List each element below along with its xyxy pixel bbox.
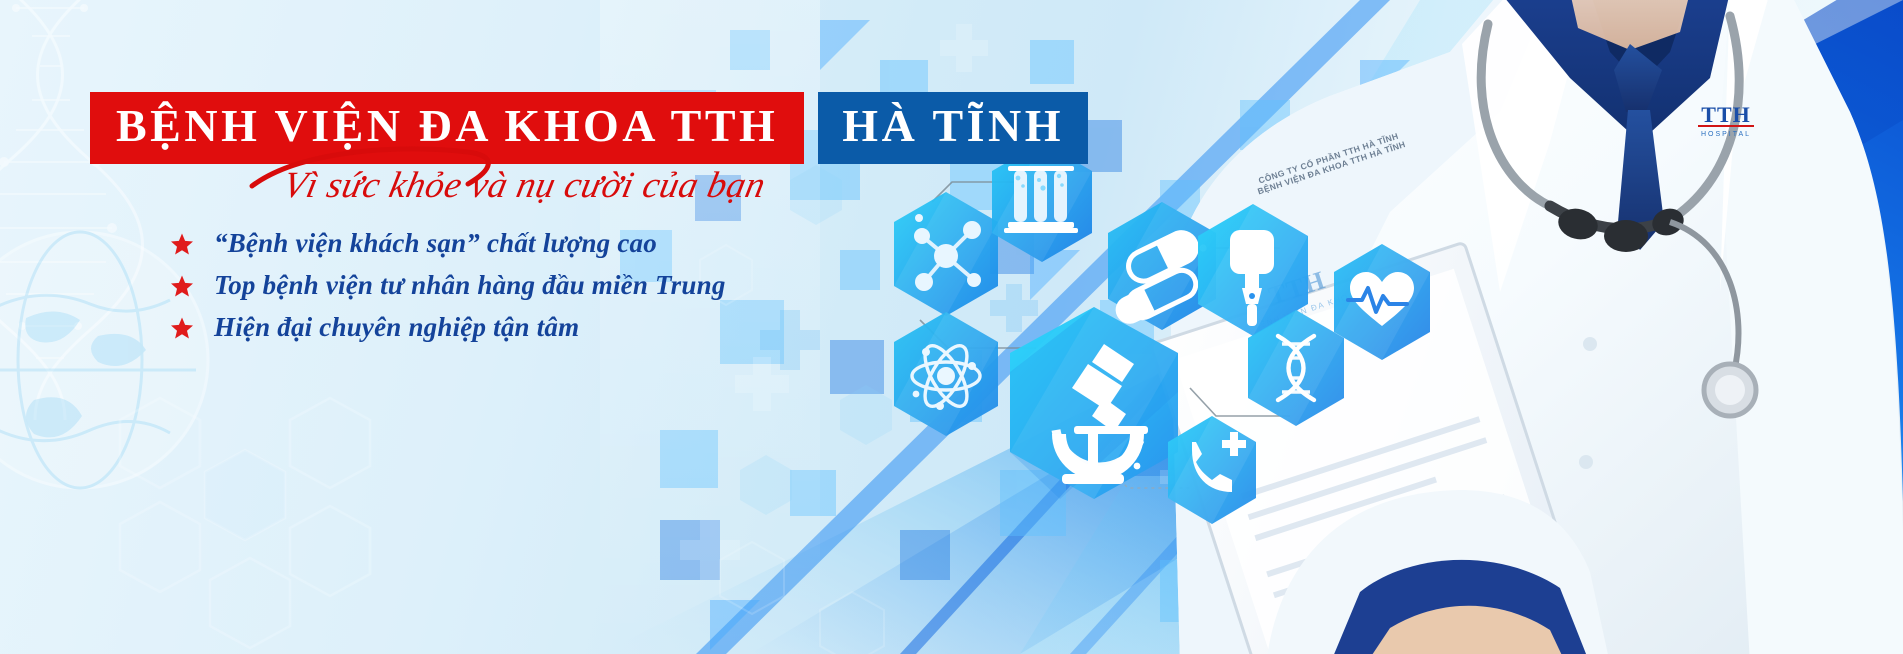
hospital-banner: TTH HOSPITAL CÔNG TY CỔ PHẦN TTH HÀ TĨNH…	[0, 0, 1903, 654]
tagline-script: Vì sức khỏe và nụ cười của bạn	[270, 156, 790, 218]
hex-phone-cross-icon	[1160, 412, 1264, 528]
tagline-text: Vì sức khỏe và nụ cười của bạn	[279, 164, 769, 207]
svg-text:TTH: TTH	[1701, 102, 1750, 127]
hex-heartbeat-icon	[1326, 240, 1438, 364]
bullet-text: Hiện đại chuyên nghiệp tận tâm	[214, 312, 579, 343]
bullet-item: “Bệnh viện khách sạn” chất lượng cao	[170, 228, 726, 259]
bullet-text: Top bệnh viện tư nhân hàng đầu miền Trun…	[214, 270, 726, 301]
star-icon	[170, 232, 194, 256]
star-icon	[170, 316, 194, 340]
feature-bullet-list: “Bệnh viện khách sạn” chất lượng cao Top…	[170, 228, 726, 343]
svg-text:HOSPITAL: HOSPITAL	[1701, 131, 1751, 138]
bullet-item: Top bệnh viện tư nhân hàng đầu miền Trun…	[170, 270, 726, 301]
headline-text-block: BỆNH VIỆN ĐA KHOA TTH HÀ TĨNH Vì sức khỏ…	[0, 0, 960, 420]
star-icon	[170, 274, 194, 298]
province-blue-banner: HÀ TĨNH	[818, 92, 1088, 164]
bullet-text: “Bệnh viện khách sạn” chất lượng cao	[214, 228, 657, 259]
test-tubes-icon	[1004, 166, 1078, 233]
hexagon-outline-pattern	[60, 380, 480, 654]
bullet-item: Hiện đại chuyên nghiệp tận tâm	[170, 312, 726, 343]
